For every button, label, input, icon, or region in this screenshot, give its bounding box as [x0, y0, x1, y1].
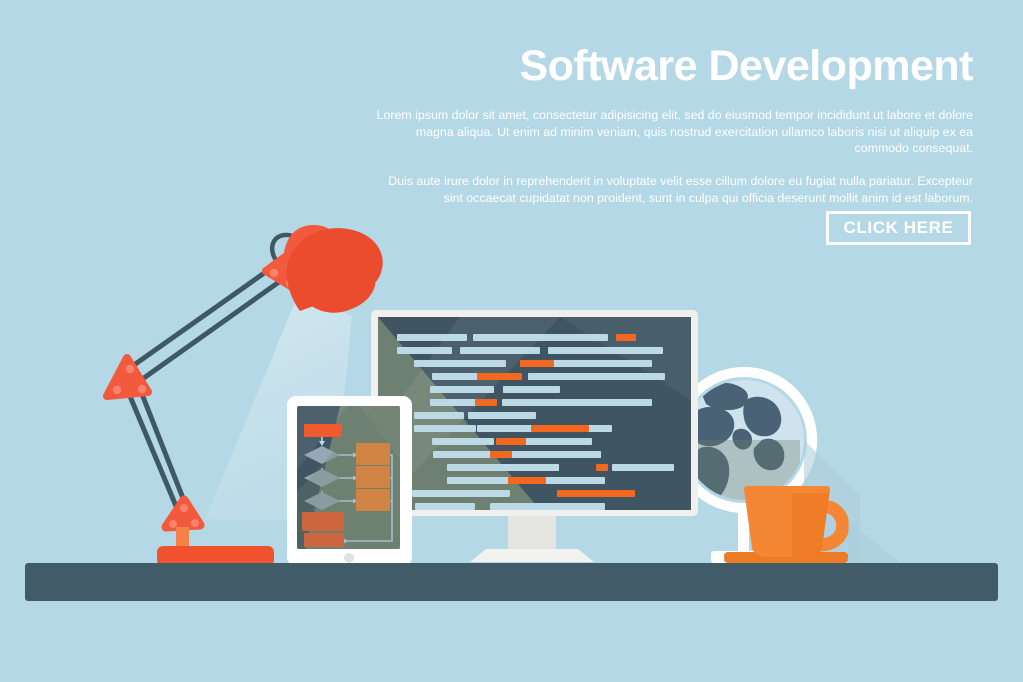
monitor-stand-base	[470, 549, 594, 562]
click-here-button[interactable]: CLICK HERE	[826, 211, 971, 245]
lamp-post	[176, 527, 189, 549]
page-title: Software Development	[373, 44, 973, 89]
tablet	[287, 396, 412, 566]
hero-text-block: Software Development Lorem ipsum dolor s…	[373, 44, 973, 206]
hero-paragraph-2: Duis aute irure dolor in reprehenderit i…	[373, 173, 973, 206]
monitor-stand-neck	[508, 510, 556, 554]
hero-paragraph-1: Lorem ipsum dolor sit amet, consectetur …	[373, 107, 973, 156]
illustration-page: Software Development Lorem ipsum dolor s…	[0, 0, 1023, 682]
cup-rim	[744, 486, 830, 493]
flow-node-start	[304, 424, 342, 437]
desk	[25, 563, 998, 601]
tablet-home-button	[344, 553, 354, 563]
